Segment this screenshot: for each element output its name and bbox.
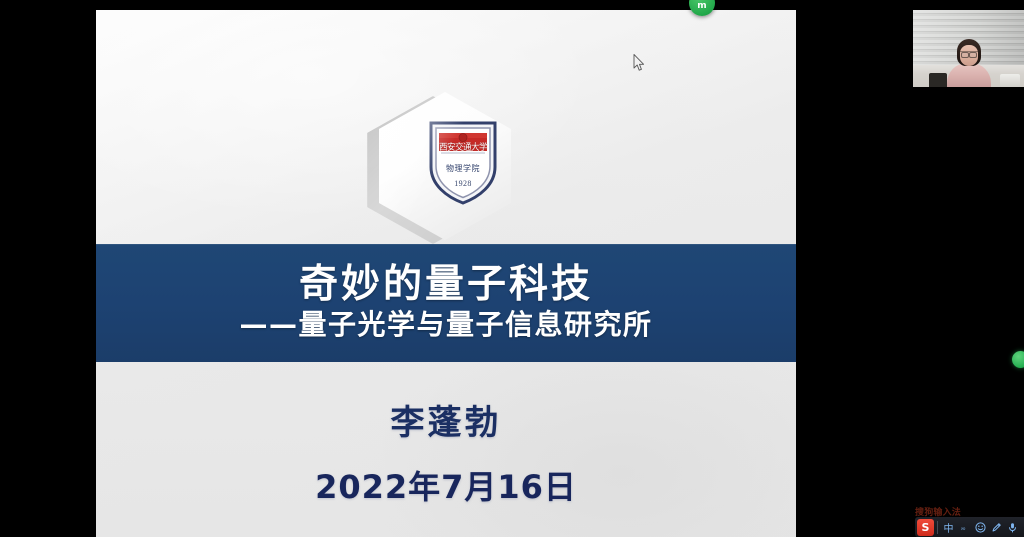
participant-torso xyxy=(947,63,991,87)
sogou-ime-logo-icon[interactable]: S xyxy=(917,519,934,536)
ime-language-mode-glyph: 中 xyxy=(944,520,954,535)
shield-university-name: 西安交通大学 xyxy=(427,141,499,154)
slide-title-band: 奇妙的量子科技 ——量子光学与量子信息研究所 xyxy=(96,244,796,362)
ime-punctuation-mode-glyph: ，。 xyxy=(960,522,969,532)
ime-punctuation-mode-button[interactable]: ，。 xyxy=(957,519,972,536)
presenter-name: 李蓬勃 xyxy=(96,395,796,444)
ime-separator xyxy=(937,521,938,534)
university-shield-logo: 西安交通大学 物理学院 1928 xyxy=(361,92,536,242)
desk-object-light xyxy=(1000,74,1020,87)
slide-subtitle: ——量子光学与量子信息研究所 xyxy=(239,310,652,341)
participant-glasses xyxy=(960,51,978,57)
shield-college-name: 物理学院 xyxy=(427,163,499,174)
shield-founding-year: 1928 xyxy=(427,179,499,188)
shield-emblem: 西安交通大学 物理学院 1928 xyxy=(427,119,499,205)
participant-status-dot-icon[interactable] xyxy=(1012,351,1024,368)
ime-language-mode-button[interactable]: 中 xyxy=(941,519,956,536)
presenter-info: 李蓬勃 2022年7月16日 xyxy=(96,395,796,508)
desk-object-dark xyxy=(929,73,947,87)
ime-emoji-button[interactable] xyxy=(973,519,988,536)
participant-figure xyxy=(947,39,991,87)
ime-handwriting-button[interactable] xyxy=(989,519,1004,536)
self-view-webcam-panel[interactable] xyxy=(899,0,1024,95)
self-view-video xyxy=(913,10,1024,87)
presentation-date: 2022年7月16日 xyxy=(96,462,796,508)
meeting-screen-share-stage: 西安交通大学 物理学院 1928 奇妙的量子科技 ——量子光学与量子信息研究所 … xyxy=(0,0,1024,537)
share-indicator-glyph: m xyxy=(697,2,706,16)
shared-slide: 西安交通大学 物理学院 1928 奇妙的量子科技 ——量子光学与量子信息研究所 … xyxy=(96,10,796,537)
ime-toolbar[interactable]: S 中 ，。 xyxy=(915,517,1024,537)
ime-voice-input-button[interactable] xyxy=(1005,519,1020,536)
slide-title: 奇妙的量子科技 xyxy=(299,265,593,306)
